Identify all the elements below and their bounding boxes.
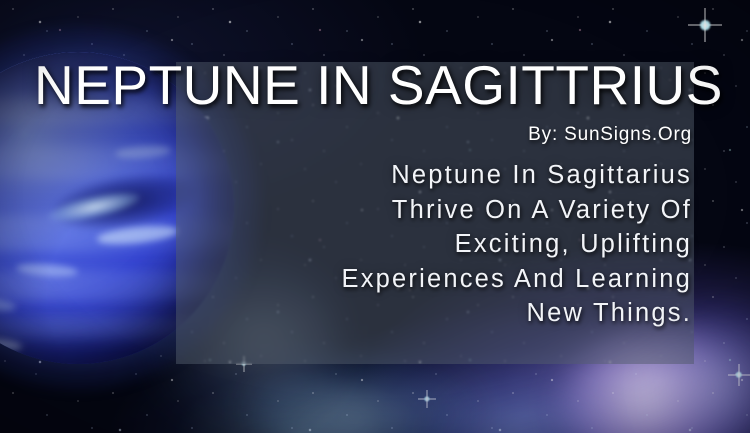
banner-image: NEPTUNE IN SAGITTRIUS By: SunSigns.Org N… [0, 0, 750, 433]
description-line: New Things. [222, 296, 692, 331]
description-line: Exciting, Uplifting [222, 227, 692, 262]
byline: By: SunSigns.Org [528, 124, 692, 146]
description-line: Neptune In Sagittarius [222, 158, 692, 193]
description-text: Neptune In Sagittarius Thrive On A Varie… [222, 158, 692, 331]
description-line: Experiences And Learning [222, 262, 692, 297]
description-line: Thrive On A Variety Of [222, 193, 692, 228]
page-title: NEPTUNE IN SAGITTRIUS [34, 58, 706, 113]
